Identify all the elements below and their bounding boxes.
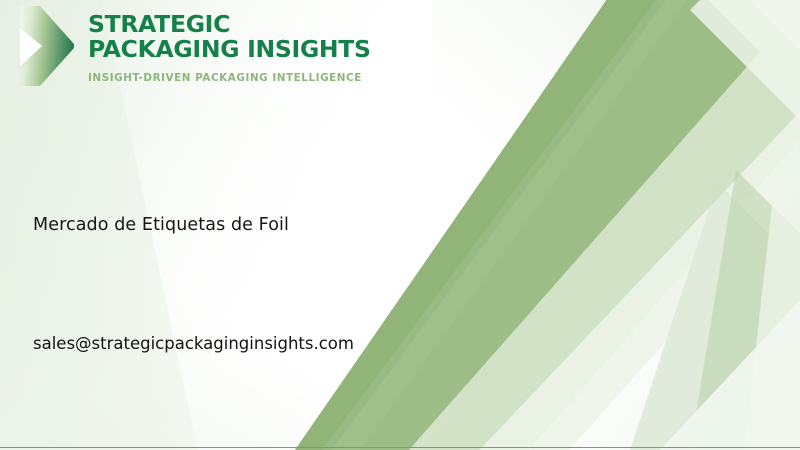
brand-tagline: INSIGHT-DRIVEN PACKAGING INTELLIGENCE [88,72,371,84]
brand-name-line-1: STRATEGIC [88,12,371,37]
brand-wordmark: STRATEGIC PACKAGING INSIGHTS INSIGHT-DRI… [76,4,371,84]
page-title: Mercado de Etiquetas de Foil [33,215,289,235]
contact-email-link[interactable]: sales@strategicpackaginginsights.com [33,334,354,353]
cover-slide: STRATEGIC PACKAGING INSIGHTS INSIGHT-DRI… [0,0,800,450]
chevron-arrow-icon [18,4,76,88]
brand-logo[interactable]: STRATEGIC PACKAGING INSIGHTS INSIGHT-DRI… [18,4,358,88]
bottom-rule [0,447,800,448]
brand-name-line-2: PACKAGING INSIGHTS [88,37,371,62]
